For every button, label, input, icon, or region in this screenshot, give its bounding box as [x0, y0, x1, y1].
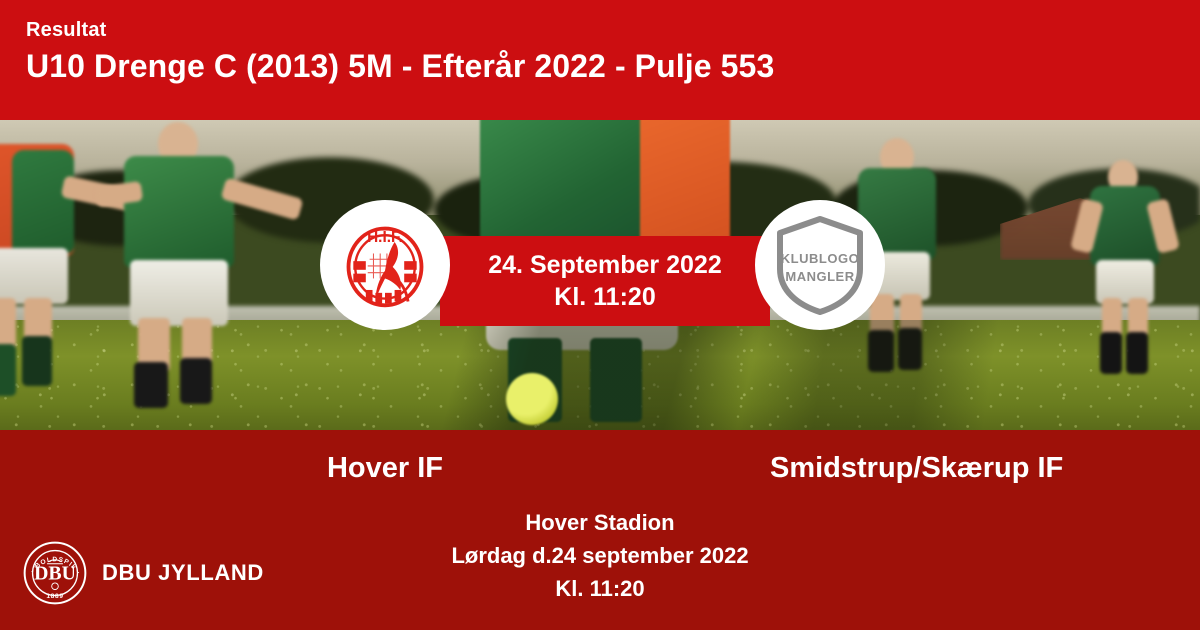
- photo-football: [506, 373, 558, 425]
- missing-club-logo-icon: KLUBLOGO MANGLER: [770, 213, 870, 317]
- match-date: 24. September 2022: [488, 249, 721, 281]
- dbu-year-text: 1889: [46, 593, 63, 600]
- dbu-center-text: DBU: [34, 563, 76, 585]
- photo-grass-shadows: [0, 320, 1200, 430]
- home-club-badge: H.I.F.: [320, 200, 450, 330]
- away-club-badge: KLUBLOGO MANGLER: [755, 200, 885, 330]
- dbu-emblem-icon: DANSK · BOLDSPIL · UNION DBU 1889: [22, 540, 88, 606]
- match-time: Kl. 11:20: [554, 281, 655, 313]
- match-result-poster: Resultat U10 Drenge C (2013) 5M - Efterå…: [0, 0, 1200, 630]
- match-datetime-banner: 24. September 2022 Kl. 11:20: [440, 236, 770, 326]
- dbu-jylland-logo: DANSK · BOLDSPIL · UNION DBU 1889 DBU JY…: [22, 540, 264, 606]
- venue-name: Hover Stadion: [0, 506, 1200, 539]
- poster-header: Resultat U10 Drenge C (2013) 5M - Efterå…: [0, 0, 1200, 120]
- home-team-name: Hover IF: [0, 448, 770, 488]
- away-logo-line2: MANGLER: [785, 269, 854, 284]
- header-kicker: Resultat: [26, 16, 1200, 44]
- team-names-row: Hover IF Smidstrup/Skærup IF: [0, 448, 1200, 488]
- away-team-name: Smidstrup/Skærup IF: [770, 448, 1200, 488]
- away-logo-line1: KLUBLOGO: [781, 251, 859, 266]
- page-title: U10 Drenge C (2013) 5M - Efterår 2022 - …: [26, 44, 1200, 88]
- hover-if-crest-icon: H.I.F.: [337, 217, 433, 313]
- dbu-org-label: DBU JYLLAND: [102, 560, 264, 586]
- home-crest-text: H.I.F.: [367, 229, 403, 246]
